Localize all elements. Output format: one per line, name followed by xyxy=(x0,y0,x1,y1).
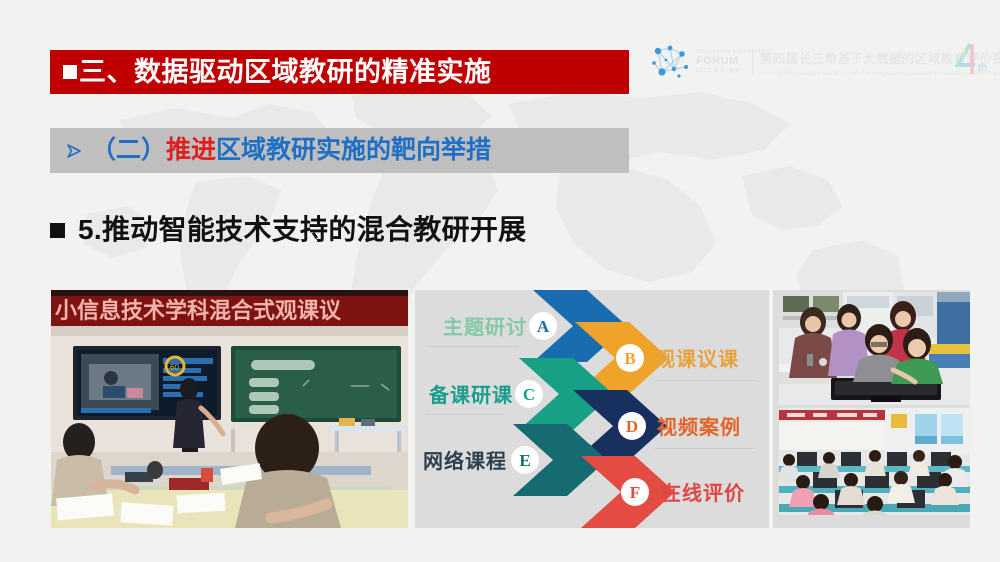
svg-text:B: B xyxy=(624,349,635,368)
diagram-rule xyxy=(655,448,755,449)
subsection-rest: 区域教研实施的靶向举措 xyxy=(216,136,491,164)
slide-canvas: EDUCATION EVALUATION FORUM 2023 浙江·温州 第四… xyxy=(0,0,1000,562)
square-bullet-icon xyxy=(63,65,77,79)
point-heading: 5.推动智能技术支持的混合教研开展 xyxy=(50,216,526,244)
section-title-text: 三、数据驱动区域教研的精准实施 xyxy=(79,59,492,86)
diagram-rule xyxy=(655,380,755,381)
subsection-title-bar: （二）推进区域教研实施的靶向举措 xyxy=(50,128,629,173)
classroom-observation-photo: 小信息技术学科混合式观课议 xyxy=(51,290,408,528)
diagram-step-label-c: 备课研课 xyxy=(425,386,513,406)
computer-lab-photo xyxy=(779,408,970,515)
section-title-bar: 三、数据驱动区域教研的精准实施 xyxy=(50,50,629,94)
svg-text:th: th xyxy=(978,62,987,74)
brand-wordmark: EDUCATION EVALUATION FORUM 2023 浙江·温州 xyxy=(696,50,748,74)
svg-text:D: D xyxy=(626,417,638,436)
svg-text:C: C xyxy=(523,385,535,404)
diagram-step-label-f: 在线评价 xyxy=(661,484,745,504)
brand-wordmark-line3: 2023 浙江·温州 xyxy=(696,69,748,74)
event-brand-header: EDUCATION EVALUATION FORUM 2023 浙江·温州 第四… xyxy=(648,36,994,88)
brand-divider xyxy=(752,49,753,75)
teachers-at-computer-photo xyxy=(779,292,970,405)
diagram-step-label-b: 观课议课 xyxy=(655,350,739,370)
mixed-teaching-research-process-diagram: A B C D E F 主题研讨 xyxy=(415,290,769,528)
subsection-emphasis: 推进 xyxy=(166,136,216,164)
network-nodes-logo-icon xyxy=(648,39,694,85)
square-bullet-dark-icon xyxy=(50,223,65,238)
svg-text:E: E xyxy=(519,451,530,470)
right-photo-column xyxy=(773,290,970,528)
subsection-number: （二） xyxy=(91,136,166,164)
svg-text:A: A xyxy=(537,317,550,336)
svg-text:小信息技术学科混合式观课议: 小信息技术学科混合式观课议 xyxy=(55,298,342,323)
diagram-rule xyxy=(427,346,519,347)
svg-text:60: 60 xyxy=(170,363,179,372)
diagram-step-label-d: 视频案例 xyxy=(657,418,741,438)
diagram-rule xyxy=(427,414,505,415)
diagram-step-label-e: 网络课程 xyxy=(419,452,507,472)
svg-text:F: F xyxy=(630,483,640,502)
content-band: 小信息技术学科混合式观课议 xyxy=(51,290,970,528)
brand-wordmark-line2: FORUM xyxy=(696,56,748,68)
four-th-logo-icon: th xyxy=(948,40,992,82)
diagram-step-label-a: 主题研讨 xyxy=(439,318,527,338)
point-heading-text: 5.推动智能技术支持的混合教研开展 xyxy=(78,216,526,244)
arrow-right-bullet-icon xyxy=(66,143,82,159)
